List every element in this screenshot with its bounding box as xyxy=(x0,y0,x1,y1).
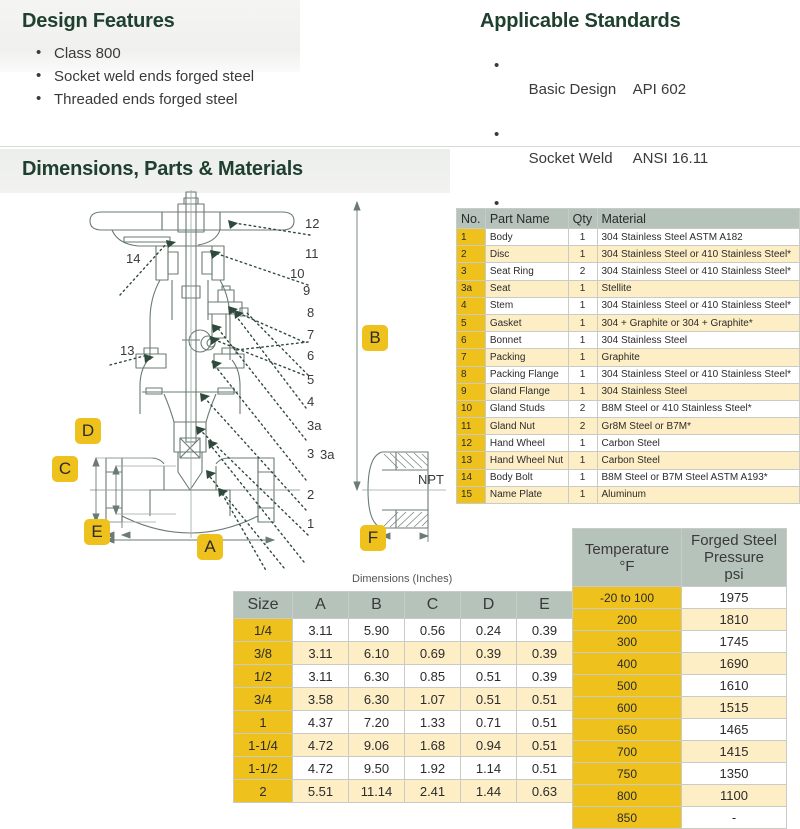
table-row: -20 to 1001975 xyxy=(573,587,787,609)
cell-size: 1/2 xyxy=(234,665,293,688)
cell-size: 1-1/2 xyxy=(234,757,293,780)
column-header-size: Size xyxy=(234,592,293,619)
table-row: 8001100 xyxy=(573,785,787,807)
cell-temperature: 650 xyxy=(573,719,682,741)
cell-qty: 1 xyxy=(568,452,597,469)
callout-1: 1 xyxy=(307,516,314,531)
dimensions-table-caption: Dimensions (Inches) xyxy=(352,573,452,585)
cell-part-name: Gasket xyxy=(485,314,568,331)
cell-part-name: Gland Nut xyxy=(485,418,568,435)
column-header-a: A xyxy=(293,592,349,619)
cell-e: 0.51 xyxy=(517,734,573,757)
column-header-temperature: Temperature°F xyxy=(573,529,682,587)
table-row: 1-1/24.729.501.921.140.510.72 xyxy=(234,757,629,780)
dimension-badge-b: B xyxy=(362,325,388,351)
cell-b: 6.30 xyxy=(349,665,405,688)
table-row: 14Body Bolt1B8M Steel or B7M Steel ASTM … xyxy=(457,469,800,486)
cell-no: 4 xyxy=(457,297,486,314)
table-row: 7Packing1Graphite xyxy=(457,349,800,366)
cell-b: 5.90 xyxy=(349,619,405,642)
table-row: 2Disc1304 Stainless Steel or 410 Stainle… xyxy=(457,246,800,263)
callout-3a: 3a xyxy=(320,447,334,462)
table-row: 6501465 xyxy=(573,719,787,741)
cell-part-name: Seat xyxy=(485,280,568,297)
callout-10: 9 xyxy=(303,283,310,298)
cell-material: 304 Stainless Steel or 410 Stainless Ste… xyxy=(597,263,800,280)
parts-and-materials-table: No. Part Name Qty Material 1Body1304 Sta… xyxy=(456,208,800,504)
table-row: 3Seat Ring2304 Stainless Steel or 410 St… xyxy=(457,263,800,280)
page-title: Dimensions, Parts & Materials xyxy=(22,158,303,181)
cell-a: 3.11 xyxy=(293,619,349,642)
pressure-temperature-table-container: Temperature°F Forged SteelPressurepsi -2… xyxy=(572,528,787,829)
table-row: 1/23.116.300.850.510.390.54 xyxy=(234,665,629,688)
cell-qty: 1 xyxy=(568,469,597,486)
cell-qty: 1 xyxy=(568,297,597,314)
applicable-standards-heading: Applicable Standards xyxy=(480,10,681,33)
callout-14: 13 xyxy=(120,343,134,358)
table-header-row: No. Part Name Qty Material xyxy=(457,209,800,229)
cell-part-name: Gland Flange xyxy=(485,383,568,400)
cell-no: 8 xyxy=(457,366,486,383)
cell-pressure: 1610 xyxy=(682,675,787,697)
table-row: 6Bonnet1304 Stainless Steel xyxy=(457,332,800,349)
cell-material: Gr8M Steel or B7M* xyxy=(597,418,800,435)
cell-material: 304 + Graphite or 304 + Graphite* xyxy=(597,314,800,331)
table-header-row: Size A B C D E F xyxy=(234,592,629,619)
callout-4: 3a xyxy=(307,418,321,433)
table-row: 11Gland Nut2Gr8M Steel or B7M* xyxy=(457,418,800,435)
cell-temperature: 750 xyxy=(573,763,682,785)
design-features-list: Class 800 Socket weld ends forged steel … xyxy=(28,42,328,111)
cell-size: 2 xyxy=(234,780,293,803)
cell-c: 0.56 xyxy=(405,619,461,642)
cell-e: 0.51 xyxy=(517,757,573,780)
callout-12: 11 xyxy=(305,246,319,261)
cell-e: 0.39 xyxy=(517,642,573,665)
table-row: 3/43.586.301.070.510.510.55 xyxy=(234,688,629,711)
cell-size: 3/4 xyxy=(234,688,293,711)
cell-b: 9.06 xyxy=(349,734,405,757)
cell-e: 0.39 xyxy=(517,665,573,688)
cell-material: 304 Stainless Steel or 410 Stainless Ste… xyxy=(597,366,800,383)
cell-b: 9.50 xyxy=(349,757,405,780)
column-header-forged-steel-pressure: Forged SteelPressurepsi xyxy=(682,529,787,587)
table-row: 5001610 xyxy=(573,675,787,697)
table-row: 5Gasket1304 + Graphite or 304 + Graphite… xyxy=(457,314,800,331)
cell-material: Aluminum xyxy=(597,486,800,503)
cell-a: 4.37 xyxy=(293,711,349,734)
cell-temperature: 400 xyxy=(573,653,682,675)
cell-b: 6.10 xyxy=(349,642,405,665)
cell-qty: 1 xyxy=(568,349,597,366)
dimensions-table: Size A B C D E F 1/43.115.900.560.240.39… xyxy=(233,591,629,803)
cell-qty: 1 xyxy=(568,229,597,246)
cell-a: 5.51 xyxy=(293,780,349,803)
cell-qty: 1 xyxy=(568,280,597,297)
cell-material: 304 Stainless Steel xyxy=(597,383,800,400)
cell-pressure: 1465 xyxy=(682,719,787,741)
table-row: 1/43.115.900.560.240.390.40 xyxy=(234,619,629,642)
cell-part-name: Stem xyxy=(485,297,568,314)
cell-no: 2 xyxy=(457,246,486,263)
callout-13: 12 xyxy=(305,216,319,231)
cell-material: Carbon Steel xyxy=(597,452,800,469)
cell-a: 4.72 xyxy=(293,734,349,757)
dimension-badge-e: E xyxy=(84,519,110,545)
cell-pressure: 1100 xyxy=(682,785,787,807)
table-header-row: Temperature°F Forged SteelPressurepsi xyxy=(573,529,787,587)
cell-part-name: Body Bolt xyxy=(485,469,568,486)
cell-part-name: Gland Studs xyxy=(485,400,568,417)
cell-b: 7.20 xyxy=(349,711,405,734)
table-row: 9Gland Flange1304 Stainless Steel xyxy=(457,383,800,400)
callout-2: 2 xyxy=(307,487,314,502)
cell-no: 15 xyxy=(457,486,486,503)
pressure-temperature-table: Temperature°F Forged SteelPressurepsi -2… xyxy=(572,528,787,829)
npt-label: NPT xyxy=(418,472,444,487)
cell-e: 0.51 xyxy=(517,711,573,734)
cell-no: 1 xyxy=(457,229,486,246)
table-row: 1Body1304 Stainless Steel ASTM A182 xyxy=(457,229,800,246)
column-header-e: E xyxy=(517,592,573,619)
cell-d: 0.71 xyxy=(461,711,517,734)
table-row: 850- xyxy=(573,807,787,829)
valve-drawing-svg xyxy=(60,190,460,570)
cell-c: 1.92 xyxy=(405,757,461,780)
cell-part-name: Bonnet xyxy=(485,332,568,349)
cell-material: Graphite xyxy=(597,349,800,366)
cell-a: 3.58 xyxy=(293,688,349,711)
cell-d: 0.51 xyxy=(461,688,517,711)
cell-a: 3.11 xyxy=(293,665,349,688)
cell-part-name: Name Plate xyxy=(485,486,568,503)
list-item: Threaded ends forged steel xyxy=(28,88,328,111)
cell-pressure: 1745 xyxy=(682,631,787,653)
cell-material: Stellite xyxy=(597,280,800,297)
cell-e: 0.51 xyxy=(517,688,573,711)
cell-c: 1.33 xyxy=(405,711,461,734)
table-row: 14.377.201.330.710.510.69 xyxy=(234,711,629,734)
table-row: 1-1/44.729.061.680.940.510.71 xyxy=(234,734,629,757)
dimension-badge-c: C xyxy=(52,456,78,482)
cell-pressure: 1690 xyxy=(682,653,787,675)
cell-d: 1.44 xyxy=(461,780,517,803)
cell-temperature: -20 to 100 xyxy=(573,587,682,609)
cell-pressure: 1810 xyxy=(682,609,787,631)
standard-value: API 602 xyxy=(633,81,686,98)
cell-c: 1.68 xyxy=(405,734,461,757)
cell-material: B8M Steel or B7M Steel ASTM A193* xyxy=(597,469,800,486)
cell-part-name: Packing xyxy=(485,349,568,366)
standard-name: Socket Weld xyxy=(529,147,633,170)
list-item: Socket WeldANSI 16.11 xyxy=(486,124,786,193)
cell-qty: 1 xyxy=(568,314,597,331)
cell-size: 3/8 xyxy=(234,642,293,665)
cell-d: 0.94 xyxy=(461,734,517,757)
cell-qty: 1 xyxy=(568,366,597,383)
cell-pressure: 1975 xyxy=(682,587,787,609)
cell-no: 9 xyxy=(457,383,486,400)
cell-temperature: 700 xyxy=(573,741,682,763)
cell-no: 6 xyxy=(457,332,486,349)
cell-d: 1.14 xyxy=(461,757,517,780)
cell-part-name: Hand Wheel Nut xyxy=(485,452,568,469)
column-header-c: C xyxy=(405,592,461,619)
cell-qty: 2 xyxy=(568,400,597,417)
table-row: 25.5111.142.411.440.630.76 xyxy=(234,780,629,803)
dimension-badge-d: D xyxy=(75,418,101,444)
cell-c: 1.07 xyxy=(405,688,461,711)
callout-8: 7 xyxy=(307,327,314,342)
cell-material: 304 Stainless Steel xyxy=(597,332,800,349)
cell-qty: 1 xyxy=(568,383,597,400)
cell-no: 5 xyxy=(457,314,486,331)
cell-no: 12 xyxy=(457,435,486,452)
cell-size: 1-1/4 xyxy=(234,734,293,757)
list-item: Socket weld ends forged steel xyxy=(28,65,328,88)
column-header-d: D xyxy=(461,592,517,619)
cell-no: 7 xyxy=(457,349,486,366)
callout-6: 5 xyxy=(307,372,314,387)
cell-material: 304 Stainless Steel ASTM A182 xyxy=(597,229,800,246)
cell-c: 2.41 xyxy=(405,780,461,803)
cell-material: 304 Stainless Steel or 410 Stainless Ste… xyxy=(597,246,800,263)
cell-material: B8M Steel or 410 Stainless Steel* xyxy=(597,400,800,417)
callout-5: 4 xyxy=(307,394,314,409)
table-row: 7001415 xyxy=(573,741,787,763)
cell-qty: 1 xyxy=(568,486,597,503)
cell-pressure: - xyxy=(682,807,787,829)
table-row: 10Gland Studs2B8M Steel or 410 Stainless… xyxy=(457,400,800,417)
callout-7: 6 xyxy=(307,348,314,363)
cell-pressure: 1515 xyxy=(682,697,787,719)
cell-a: 3.11 xyxy=(293,642,349,665)
dimensions-table-container: Size A B C D E F 1/43.115.900.560.240.39… xyxy=(233,591,629,803)
design-features-heading: Design Features xyxy=(22,10,175,33)
callout-3: 3 xyxy=(307,446,314,461)
cell-material: 304 Stainless Steel or 410 Stainless Ste… xyxy=(597,297,800,314)
cell-temperature: 300 xyxy=(573,631,682,653)
table-row: 3aSeat1Stellite xyxy=(457,280,800,297)
cell-qty: 1 xyxy=(568,332,597,349)
cell-pressure: 1415 xyxy=(682,741,787,763)
cell-size: 1/4 xyxy=(234,619,293,642)
cell-c: 0.69 xyxy=(405,642,461,665)
table-row: 8Packing Flange1304 Stainless Steel or 4… xyxy=(457,366,800,383)
cell-c: 0.85 xyxy=(405,665,461,688)
table-row: 2001810 xyxy=(573,609,787,631)
valve-cross-section-drawing xyxy=(60,190,460,570)
cell-no: 3 xyxy=(457,263,486,280)
cell-qty: 1 xyxy=(568,246,597,263)
standard-value: ANSI 16.11 xyxy=(633,150,709,167)
cell-part-name: Packing Flange xyxy=(485,366,568,383)
table-row: 15Name Plate1Aluminum xyxy=(457,486,800,503)
cell-no: 13 xyxy=(457,452,486,469)
list-item: Class 800 xyxy=(28,42,328,65)
cell-material: Carbon Steel xyxy=(597,435,800,452)
cell-temperature: 800 xyxy=(573,785,682,807)
cell-temperature: 850 xyxy=(573,807,682,829)
cell-d: 0.24 xyxy=(461,619,517,642)
column-header-part-name: Part Name xyxy=(485,209,568,229)
cell-b: 11.14 xyxy=(349,780,405,803)
cell-qty: 2 xyxy=(568,263,597,280)
cell-qty: 2 xyxy=(568,418,597,435)
dimension-badge-a: A xyxy=(197,534,223,560)
cell-a: 4.72 xyxy=(293,757,349,780)
cell-pressure: 1350 xyxy=(682,763,787,785)
cell-qty: 1 xyxy=(568,435,597,452)
list-item: Basic DesignAPI 602 xyxy=(486,55,786,124)
column-header-no: No. xyxy=(457,209,486,229)
column-header-b: B xyxy=(349,592,405,619)
table-row: 3/83.116.100.690.390.390.43 xyxy=(234,642,629,665)
cell-temperature: 500 xyxy=(573,675,682,697)
cell-no: 10 xyxy=(457,400,486,417)
table-row: 13Hand Wheel Nut1Carbon Steel xyxy=(457,452,800,469)
callout-9: 8 xyxy=(307,305,314,320)
column-header-qty: Qty xyxy=(568,209,597,229)
cell-d: 0.51 xyxy=(461,665,517,688)
cell-temperature: 600 xyxy=(573,697,682,719)
dimension-badge-f: F xyxy=(360,525,386,551)
table-row: 6001515 xyxy=(573,697,787,719)
cell-no: 11 xyxy=(457,418,486,435)
column-header-material: Material xyxy=(597,209,800,229)
cell-b: 6.30 xyxy=(349,688,405,711)
cell-e: 0.39 xyxy=(517,619,573,642)
cell-part-name: Seat Ring xyxy=(485,263,568,280)
parts-and-materials-table-container: No. Part Name Qty Material 1Body1304 Sta… xyxy=(456,208,800,504)
cell-temperature: 200 xyxy=(573,609,682,631)
standard-name: Basic Design xyxy=(529,78,633,101)
cell-no: 14 xyxy=(457,469,486,486)
table-row: 4001690 xyxy=(573,653,787,675)
table-row: 12Hand Wheel1Carbon Steel xyxy=(457,435,800,452)
callout-11: 10 xyxy=(290,266,304,281)
cell-part-name: Body xyxy=(485,229,568,246)
cell-part-name: Disc xyxy=(485,246,568,263)
table-row: 3001745 xyxy=(573,631,787,653)
cell-size: 1 xyxy=(234,711,293,734)
table-row: 4Stem1304 Stainless Steel or 410 Stainle… xyxy=(457,297,800,314)
callout-15: 14 xyxy=(126,251,140,266)
cell-d: 0.39 xyxy=(461,642,517,665)
table-row: 7501350 xyxy=(573,763,787,785)
cell-part-name: Hand Wheel xyxy=(485,435,568,452)
cell-e: 0.63 xyxy=(517,780,573,803)
cell-no: 3a xyxy=(457,280,486,297)
